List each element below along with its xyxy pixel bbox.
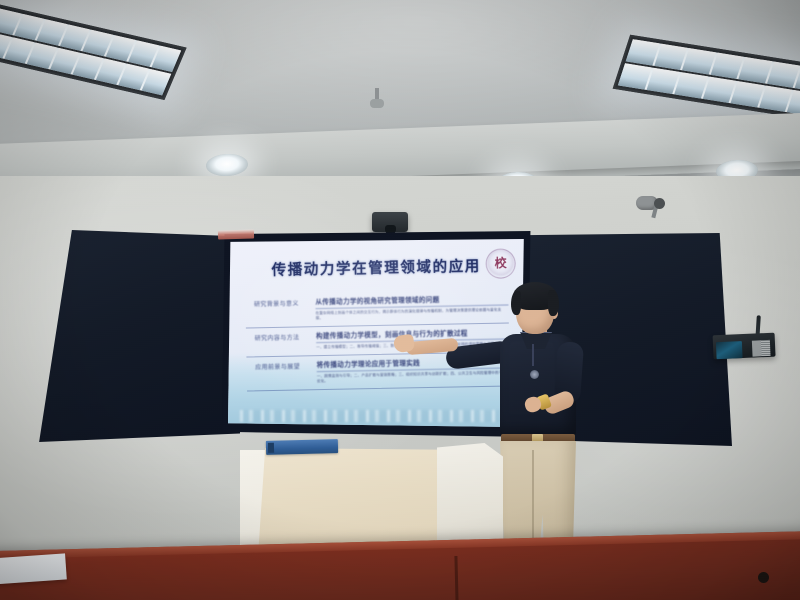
presenter-hair-side-right — [548, 290, 559, 316]
security-camera-icon — [636, 196, 666, 218]
screen-corner-sticker — [218, 229, 254, 239]
presenter-shirt-logo — [530, 370, 539, 379]
slide-row-label: 研究内容与方法 — [246, 331, 308, 343]
podium-nameplate — [266, 439, 338, 455]
device-display — [716, 341, 743, 359]
sprinkler-icon — [370, 88, 384, 114]
device-label-sticker — [752, 340, 771, 357]
university-seal-mark: 校 — [494, 254, 506, 271]
wireless-access-point-icon — [712, 329, 775, 360]
presenter-hair-side-left — [511, 291, 521, 315]
slide-row-label: 应用前景与展望 — [246, 359, 308, 371]
slide-row-label: 研究背景与意义 — [245, 296, 307, 308]
slide-title: 传播动力学在管理领域的应用 — [239, 254, 514, 280]
desk-knob — [758, 572, 769, 583]
desk-paper — [0, 553, 67, 584]
projector-icon — [372, 212, 408, 232]
lecture-hall-photo: 传播动力学在管理领域的应用 校 研究背景与意义 从传播动力学的视角研究管理领域的… — [0, 0, 800, 600]
presenter-placket — [532, 344, 534, 366]
